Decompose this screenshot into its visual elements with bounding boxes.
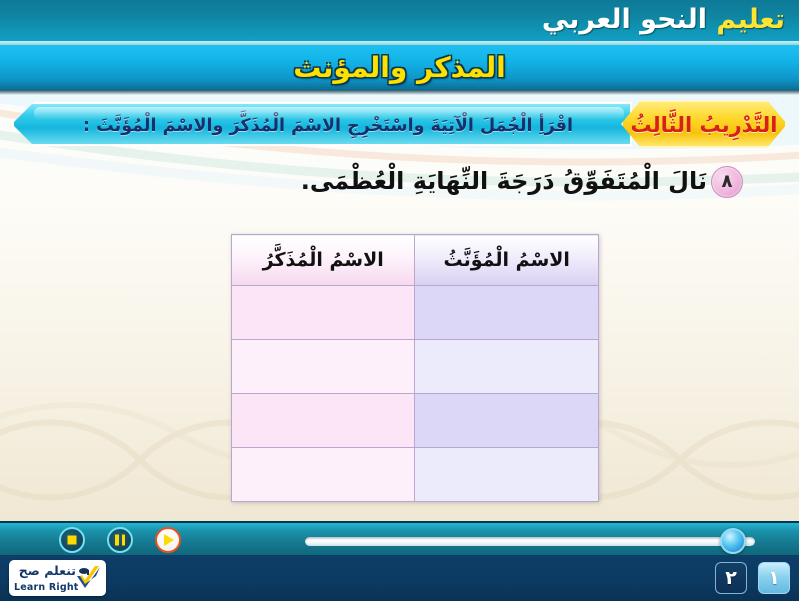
progress-slider[interactable] (305, 537, 755, 546)
page-button-1[interactable]: ١ (758, 562, 790, 594)
instruction-banner: اقْرَأِ الْجُمَلَ الْآتِيَةَ واسْتَخْرِج… (12, 102, 632, 146)
answer-cell-masculine[interactable] (232, 448, 415, 502)
stop-button[interactable] (59, 527, 85, 553)
instruction-text: اقْرَأِ الْجُمَلَ الْآتِيَةَ واسْتَخْرِج… (40, 104, 616, 148)
table-header-masculine: الاسْمُ الْمُذَكَّرُ (232, 235, 415, 286)
exercise-badge-label: التَّدْرِيبُ الثَّالِثُ (623, 102, 785, 146)
question-row: ٨ نَالَ الْمُتَفَوِّقُ دَرَجَةَ النِّهَا… (0, 160, 799, 204)
table-row (232, 286, 599, 340)
answer-cell-feminine[interactable] (415, 394, 599, 448)
table-row (232, 448, 599, 502)
page-title: المذكر والمؤنث (0, 47, 799, 89)
answer-cell-feminine[interactable] (415, 340, 599, 394)
footer-bar: تنعلم صح Learn Right ٢ ١ (0, 555, 799, 601)
answer-cell-feminine[interactable] (415, 448, 599, 502)
pause-icon (115, 535, 125, 546)
logo-english-text: Learn Right (14, 582, 79, 593)
page-button-2[interactable]: ٢ (715, 562, 747, 594)
answer-cell-masculine[interactable] (232, 394, 415, 448)
app-header: تعليم النحو العربي (0, 0, 799, 41)
question-number-badge: ٨ (711, 166, 743, 198)
answer-cell-masculine[interactable] (232, 286, 415, 340)
table-header-row: الاسْمُ الْمُؤَنَّثُ الاسْمُ الْمُذَكَّر… (232, 235, 599, 286)
answer-table: الاسْمُ الْمُؤَنَّثُ الاسْمُ الْمُذَكَّر… (231, 234, 599, 502)
question-sentence: نَالَ الْمُتَفَوِّقُ دَرَجَةَ النِّهَايَ… (301, 160, 707, 202)
lesson-title-bar: المذكر والمؤنث (0, 45, 799, 90)
instruction-row: اقْرَأِ الْجُمَلَ الْآتِيَةَ واسْتَخْرِج… (8, 100, 791, 148)
stop-icon (68, 536, 77, 545)
pause-button[interactable] (107, 527, 133, 553)
brand-logo: تنعلم صح Learn Right (9, 560, 106, 596)
answer-cell-feminine[interactable] (415, 286, 599, 340)
app-brand-title: تعليم النحو العربي (542, 1, 785, 39)
table-row (232, 394, 599, 448)
table-row (232, 340, 599, 394)
app-brand-accent: تعليم (716, 4, 785, 35)
answer-cell-masculine[interactable] (232, 340, 415, 394)
checkmark-icon (76, 564, 102, 591)
play-button[interactable] (155, 527, 181, 553)
logo-arabic-text: تنعلم صح (19, 563, 76, 578)
lesson-screen: تعليم النحو العربي المذكر والمؤنث اقْرَأ… (0, 0, 799, 601)
play-icon (164, 534, 174, 546)
exercise-badge: التَّدْرِيبُ الثَّالِثُ (621, 100, 787, 148)
table-header-feminine: الاسْمُ الْمُؤَنَّثُ (415, 235, 599, 286)
title-bar-shadow (0, 90, 799, 95)
media-player-bar (0, 521, 799, 557)
progress-slider-thumb[interactable] (720, 528, 746, 554)
app-brand-rest: النحو العربي (542, 4, 717, 35)
